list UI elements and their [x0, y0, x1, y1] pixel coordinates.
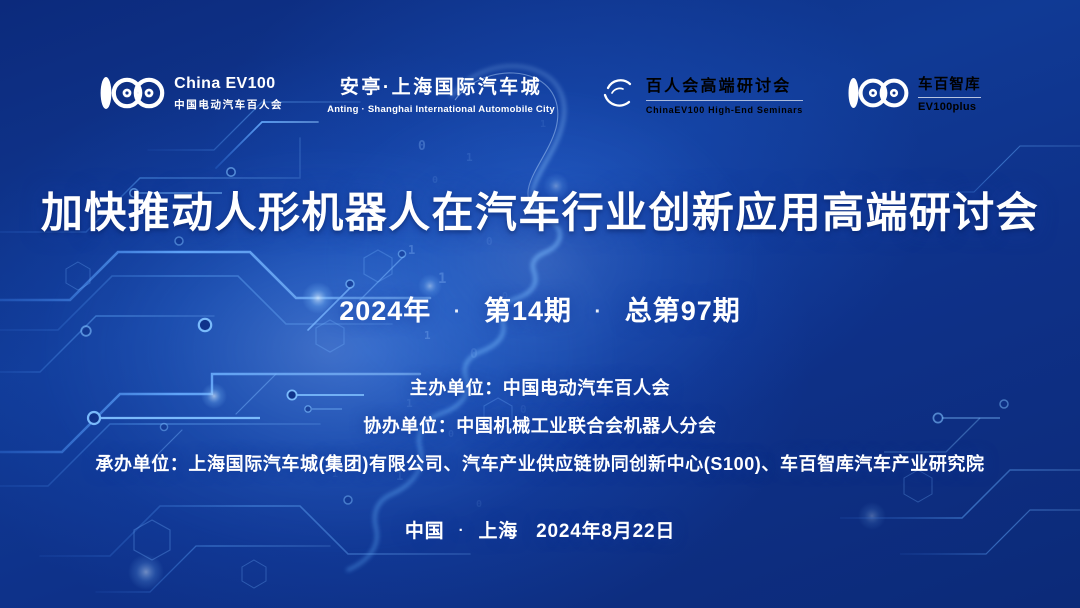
logo-en-label: Anting · Shanghai International Automobi…	[327, 104, 555, 115]
edition-year: 2024年	[339, 296, 431, 326]
logo-anting-auto-city: 安亭·上海国际汽车城 Anting · Shanghai Internation…	[327, 65, 555, 121]
binary-digit: 1	[466, 152, 473, 163]
binary-digit: 0	[470, 348, 478, 361]
binary-digit: 1	[408, 244, 415, 256]
venue-country: 中国	[405, 521, 445, 542]
logo-en-label: EV100plus	[918, 101, 981, 113]
binary-digit: 0	[476, 500, 482, 510]
binary-digit: 0	[418, 140, 426, 153]
venue-city: 上海	[478, 521, 518, 542]
logo-high-end-seminars: 百人会高端研讨会 ChinaEV100 High-End Seminars	[599, 65, 803, 121]
logo-en-label: ChinaEV100 High-End Seminars	[646, 105, 803, 115]
co-host-line: 协办单位：中国机械工业联合会机器人分会	[0, 412, 1080, 438]
venue-date-line: 中国 · 上海 2024年8月22日	[0, 516, 1080, 543]
binary-digit: 1	[424, 330, 431, 341]
logo-cn-label: 百人会高端研讨会	[646, 72, 803, 101]
logo-cn-label: 安亭·上海国际汽车城	[340, 72, 542, 99]
event-banner: 0 1 0 1 0 1 0 1 0 1 0 1 0 1 0 1 0 1	[0, 0, 1080, 608]
logo-cn-label: 车百智库	[918, 73, 981, 98]
logo-china-ev100: China EV100 中国电动汽车百人会	[99, 65, 283, 121]
edition-issue: 第14期	[484, 296, 572, 326]
logo-ev100plus: 车百智库 EV100plus	[847, 65, 981, 121]
venue-separator: ·	[451, 522, 473, 539]
host-line: 主办单位：中国电动汽车百人会	[0, 374, 1080, 400]
arc-swoosh-icon	[599, 73, 639, 113]
sponsor-logo-bar: China EV100 中国电动汽车百人会 安亭·上海国际汽车城 Anting …	[0, 62, 1080, 124]
edition-separator: ·	[440, 301, 476, 323]
100-mark-icon	[847, 77, 909, 109]
logo-en-label: China EV100	[174, 75, 283, 93]
binary-digit: 1	[438, 272, 446, 286]
edition-separator: ·	[581, 301, 617, 323]
event-date: 2024年8月22日	[536, 521, 675, 542]
edition-total: 总第97期	[625, 296, 741, 326]
logo-cn-label: 中国电动汽车百人会	[174, 97, 283, 112]
100-mark-icon	[99, 76, 165, 110]
edition-line: 2024年 · 第14期 · 总第97期	[0, 289, 1080, 328]
organizer-line: 承办单位：上海国际汽车城(集团)有限公司、汽车产业供应链协同创新中心(S100)…	[0, 450, 1080, 476]
organizer-block: 主办单位：中国电动汽车百人会 协办单位：中国机械工业联合会机器人分会 承办单位：…	[0, 374, 1080, 476]
page-title: 加快推动人形机器人在汽车行业创新应用高端研讨会	[0, 179, 1080, 240]
